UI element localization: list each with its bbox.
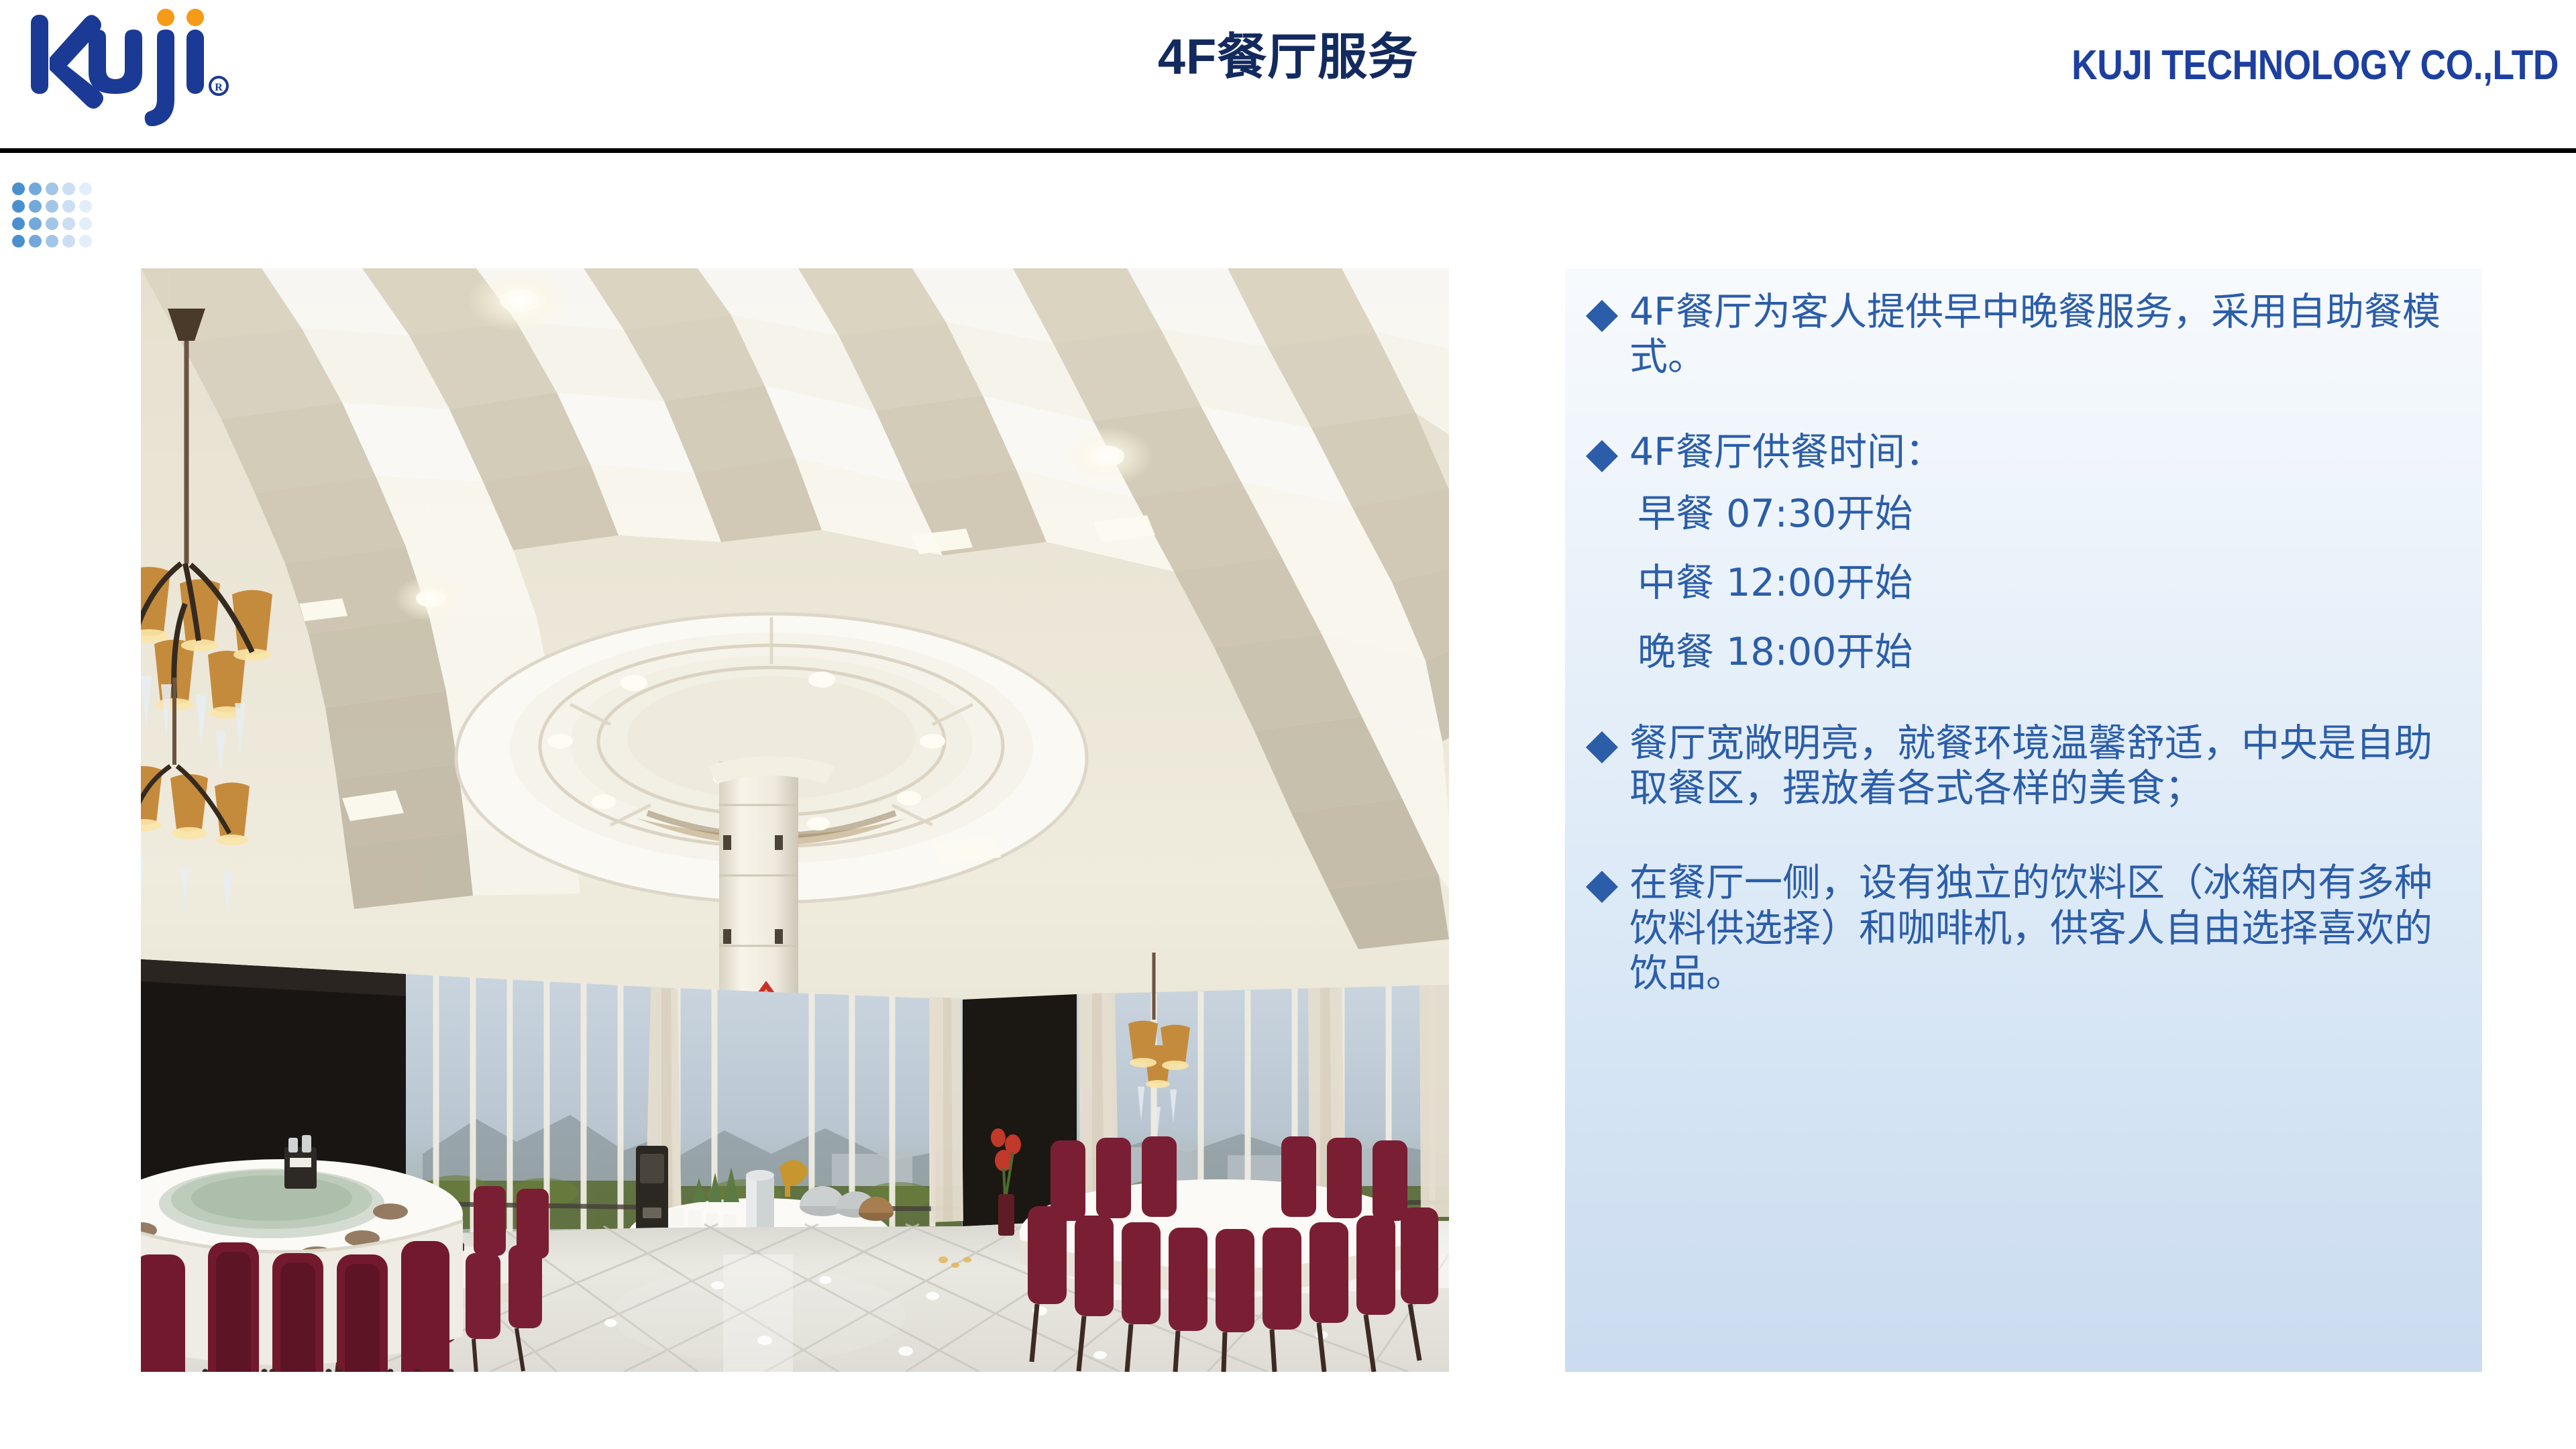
dot-icon: [62, 217, 75, 230]
diamond-bullet-icon: [1586, 300, 1618, 332]
info-panel: 4F餐厅为客人提供早中晚餐服务，采用自助餐模式。 4F餐厅供餐时间： 早餐 07…: [1565, 268, 2482, 1372]
spacer: [1591, 602, 2453, 633]
dot-icon: [12, 217, 25, 230]
diamond-bullet-icon: [1586, 871, 1618, 903]
dot-icon: [62, 200, 75, 213]
spacer: [1591, 672, 2453, 721]
diamond-bullet-icon: [1586, 731, 1618, 763]
bullet-beverage-text: 在餐厅一侧，设有独立的饮料区（冰箱内有多种饮料供选择）和咖啡机，供客人自由选择喜…: [1629, 861, 2453, 996]
svg-text:R: R: [215, 82, 223, 93]
dot-icon: [79, 182, 92, 195]
dot-icon: [79, 217, 92, 230]
dot-icon: [46, 217, 58, 230]
meal-time-lunch: 中餐 12:00开始: [1638, 564, 2453, 602]
dot-icon: [29, 200, 42, 213]
restaurant-photo: [141, 268, 1449, 1372]
dot-grid-decoration: [12, 182, 106, 256]
spacer: [1591, 533, 2453, 564]
slide-header: R 4F餐厅服务 KUJI TECHNOLOGY CO.,LTD: [0, 0, 2576, 149]
bullet-hours: 4F餐厅供餐时间：: [1591, 430, 2453, 475]
spacer: [1591, 380, 2453, 430]
dot-icon: [29, 182, 42, 195]
spacer: [1591, 811, 2453, 861]
dot-icon: [46, 200, 58, 213]
dot-icon: [62, 235, 75, 248]
bullet-service: 4F餐厅为客人提供早中晚餐服务，采用自助餐模式。: [1591, 290, 2453, 380]
dot-icon: [46, 235, 58, 248]
dot-icon: [12, 235, 25, 248]
dot-icon: [12, 200, 25, 213]
bullet-service-text: 4F餐厅为客人提供早中晚餐服务，采用自助餐模式。: [1629, 290, 2453, 380]
bullet-environment-text: 餐厅宽敞明亮，就餐环境温馨舒适，中央是自助取餐区，摆放着各式各样的美食；: [1629, 721, 2453, 812]
header-divider: [0, 148, 2576, 153]
diamond-bullet-icon: [1586, 439, 1618, 472]
dot-icon: [79, 200, 92, 213]
meal-time-breakfast: 早餐 07:30开始: [1638, 495, 2453, 533]
bullet-beverage: 在餐厅一侧，设有独立的饮料区（冰箱内有多种饮料供选择）和咖啡机，供客人自由选择喜…: [1591, 861, 2453, 996]
bullet-hours-text: 4F餐厅供餐时间：: [1629, 430, 2453, 475]
dot-icon: [29, 217, 42, 230]
dot-icon: [12, 182, 25, 195]
dot-icon: [46, 182, 58, 195]
dot-icon: [29, 235, 42, 248]
dot-icon: [62, 182, 75, 195]
meal-time-dinner: 晚餐 18:00开始: [1638, 633, 2453, 672]
company-name: KUJI TECHNOLOGY CO.,LTD: [2072, 42, 2559, 89]
bullet-environment: 餐厅宽敞明亮，就餐环境温馨舒适，中央是自助取餐区，摆放着各式各样的美食；: [1591, 721, 2453, 812]
dot-icon: [79, 235, 92, 248]
